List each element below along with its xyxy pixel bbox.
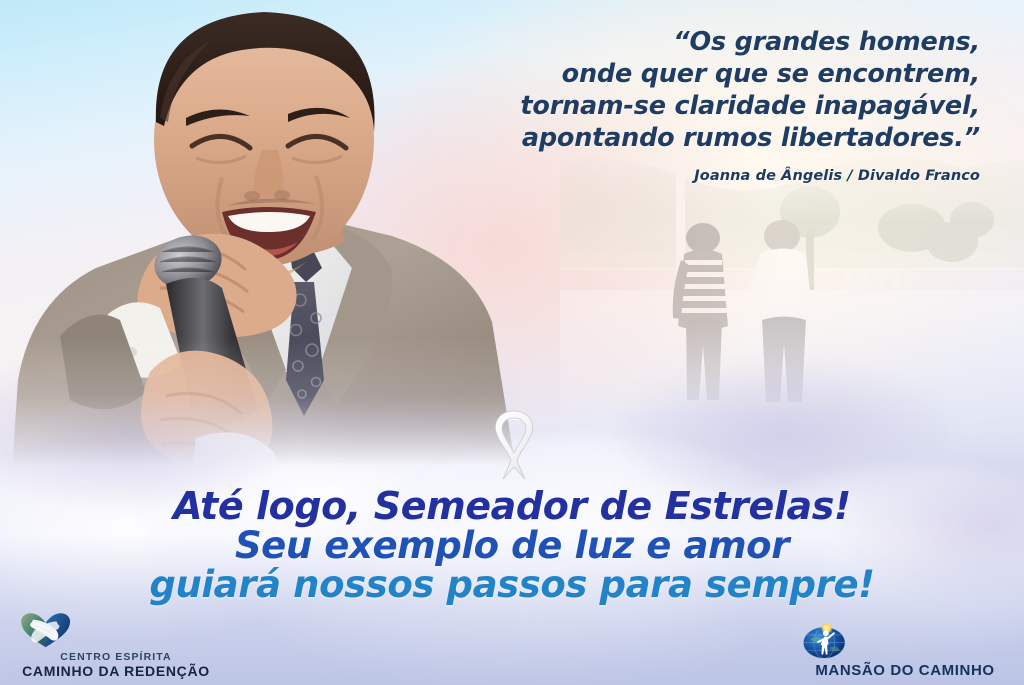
logo-mansao-do-caminho: MANSÃO DO CAMINHO [800,622,1010,679]
mourning-ribbon-icon [483,409,545,483]
logo-left-line-1: CENTRO ESPÍRITA [18,651,214,663]
quote-line-2: onde quer que se encontrem, [440,58,980,90]
quote-line-1: “Os grandes homens, [440,26,980,58]
globe-figure-icon [800,622,1010,660]
logo-right-line-1: MANSÃO DO CAMINHO [800,662,1010,679]
main-message: Até logo, Semeador de Estrelas! Seu exem… [0,486,1024,604]
logo-centro-espirita: CENTRO ESPÍRITA CAMINHO DA REDENÇÃO [18,611,214,679]
message-line-2: Seu exemplo de luz e amor [0,526,1024,565]
quote-block: “Os grandes homens, onde quer que se enc… [440,26,980,184]
quote-attribution: Joanna de Ângelis / Divaldo Franco [440,168,980,184]
message-line-1: Até logo, Semeador de Estrelas! [0,486,1024,526]
quote-line-3: tornam-se claridade inapagável, [440,90,980,122]
memorial-poster: “Os grandes homens, onde quer que se enc… [0,0,1024,685]
heart-hands-icon [18,611,214,649]
quote-line-4: apontando rumos libertadores.” [440,122,980,154]
logo-left-line-2: CAMINHO DA REDENÇÃO [18,663,214,679]
message-line-3: guiará nossos passos para sempre! [0,565,1024,604]
